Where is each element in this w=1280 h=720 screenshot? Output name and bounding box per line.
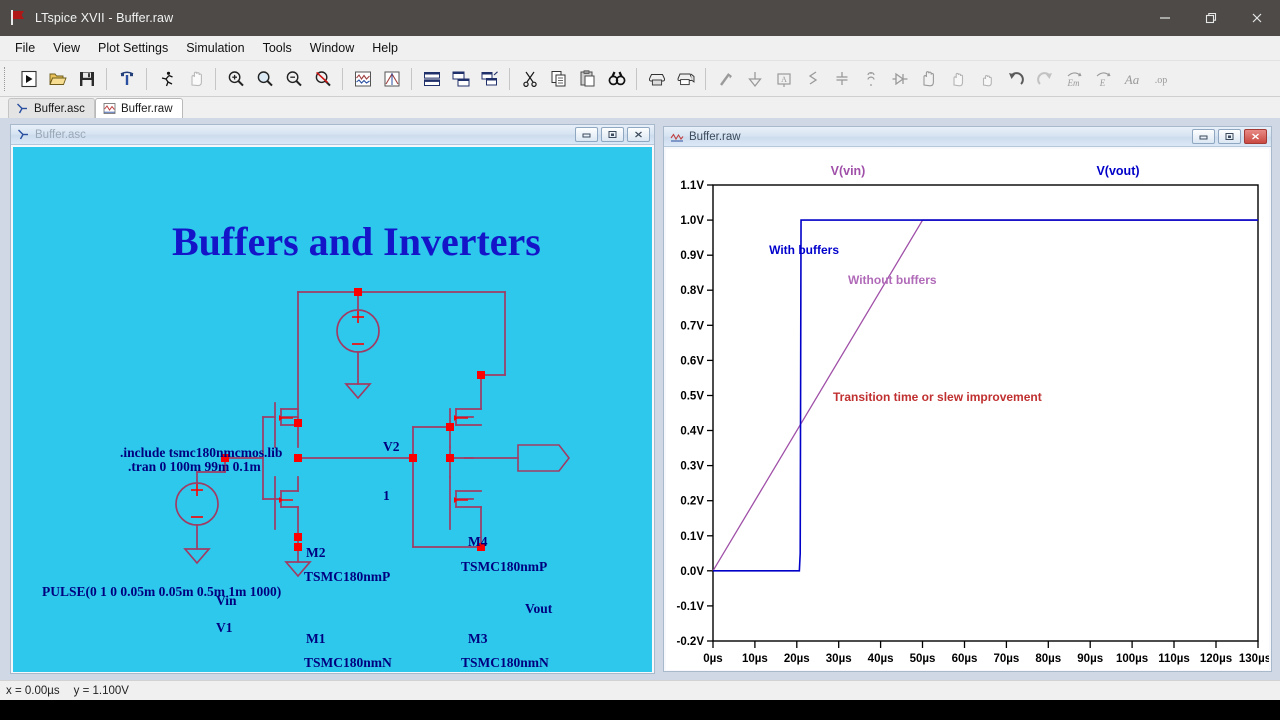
device-ref-m3: M3 — [468, 631, 488, 646]
waveform-icon[interactable] — [348, 65, 377, 93]
device-model-m2: TSMC180nmP — [304, 569, 390, 584]
y-tick-label: 0.3V — [680, 461, 704, 473]
x-tick-label: 50µs — [910, 653, 936, 665]
x-tick-label: 20µs — [784, 653, 810, 665]
waveform-plot: V(vin) V(vout) — [666, 149, 1269, 670]
paste-icon[interactable] — [573, 65, 602, 93]
spice-directive-tran: .tran 0 100m 99m 0.1m — [128, 459, 261, 474]
mirror-icon[interactable]: E — [1088, 65, 1117, 93]
document-tab-strip: Buffer.asc Buffer.raw — [0, 97, 1280, 118]
svg-text:Aa: Aa — [1123, 72, 1139, 87]
waveform-window-controls — [1192, 129, 1271, 144]
y-tick-label: 1.1V — [680, 180, 704, 192]
restore-icon[interactable] — [1188, 0, 1234, 36]
tab-buffer-asc[interactable]: Buffer.asc — [8, 98, 95, 118]
x-tick-label: 0µs — [703, 653, 722, 665]
close-icon[interactable] — [1234, 0, 1280, 36]
close-icon[interactable] — [627, 127, 650, 142]
y-tick-label: 0.5V — [680, 391, 704, 403]
title-bar: LTspice XVII - Buffer.raw — [0, 0, 1280, 36]
waveform-window-titlebar[interactable]: Buffer.raw — [664, 127, 1271, 147]
hammer-icon[interactable] — [112, 65, 141, 93]
label-net-icon[interactable]: A — [769, 65, 798, 93]
inductor-icon[interactable] — [856, 65, 885, 93]
y-tick-label: 0.7V — [680, 320, 704, 332]
y-tick-label: 0.6V — [680, 355, 704, 367]
zoom-in-icon[interactable] — [221, 65, 250, 93]
ltspice-application-window: LTspice XVII - Buffer.raw File View P — [0, 0, 1280, 720]
annotation-with-buffers: With buffers — [769, 243, 839, 257]
toolbar-grip — [4, 67, 10, 91]
cursor-x-readout: x = 0.00µs — [6, 685, 60, 697]
tile-horizontal-icon[interactable] — [417, 65, 446, 93]
x-tick-label: 120µs — [1200, 653, 1232, 665]
x-tick-label: 130µs — [1239, 653, 1269, 665]
open-folder-icon[interactable] — [43, 65, 72, 93]
menu-simulation[interactable]: Simulation — [177, 38, 253, 58]
run-icon[interactable] — [14, 65, 43, 93]
net-label-vin: Vin — [216, 593, 237, 608]
minimize-icon[interactable] — [575, 127, 598, 142]
menu-bar: File View Plot Settings Simulation Tools… — [0, 36, 1280, 61]
annotation-without-buffers: Without buffers — [848, 273, 937, 287]
svg-text:.op: .op — [1154, 75, 1167, 86]
zoom-back-icon[interactable] — [308, 65, 337, 93]
x-tick-label: 70µs — [993, 653, 1019, 665]
copy-icon[interactable] — [544, 65, 573, 93]
schematic-icon — [17, 128, 30, 141]
find-icon[interactable] — [602, 65, 631, 93]
spice-error-log-icon[interactable] — [377, 65, 406, 93]
y-tick-label: 0.1V — [680, 531, 704, 543]
menu-tools[interactable]: Tools — [254, 38, 301, 58]
waveform-child-window: Buffer.raw V(vin) V(vo — [663, 126, 1272, 672]
x-tick-label: 110µs — [1158, 653, 1190, 665]
y-tick-label: 0.2V — [680, 496, 704, 508]
screen-letterbox — [0, 700, 1280, 720]
zoom-area-icon[interactable] — [250, 65, 279, 93]
schematic-nodes — [221, 288, 485, 551]
text-icon[interactable]: Aa — [1117, 65, 1146, 93]
y-tick-label: 0.9V — [680, 250, 704, 262]
schematic-canvas[interactable]: Buffers and Inverters .include tsmc180nm… — [13, 147, 652, 672]
schematic-window-controls — [575, 127, 654, 142]
svg-text:A: A — [781, 75, 787, 84]
drag-icon[interactable] — [972, 65, 1001, 93]
close-icon[interactable] — [1244, 129, 1267, 144]
menu-window[interactable]: Window — [301, 38, 363, 58]
schematic-child-window: Buffer.asc — [10, 124, 655, 674]
x-tick-label: 100µs — [1116, 653, 1148, 665]
x-tick-label: 90µs — [1077, 653, 1103, 665]
waveform-icon — [670, 130, 684, 143]
waveform-window-title: Buffer.raw — [689, 131, 741, 143]
minimize-icon[interactable] — [1142, 0, 1188, 36]
minimize-icon[interactable] — [1192, 129, 1215, 144]
stop-hand-icon[interactable] — [181, 65, 210, 93]
device-model-m3: TSMC180nmN — [461, 655, 549, 670]
menu-help[interactable]: Help — [363, 38, 407, 58]
save-icon[interactable] — [72, 65, 101, 93]
source-ref-v2: V2 — [383, 439, 400, 454]
tab-label: Buffer.asc — [34, 103, 85, 115]
device-model-m4: TSMC180nmP — [461, 559, 547, 574]
status-bar: x = 0.00µs y = 1.100V — [0, 680, 1280, 700]
tab-label: Buffer.raw — [121, 103, 173, 115]
maximize-icon[interactable] — [601, 127, 624, 142]
x-tick-label: 40µs — [868, 653, 894, 665]
draw-wire-icon[interactable] — [711, 65, 740, 93]
device-ref-m1: M1 — [306, 631, 326, 646]
spice-directive-include: .include tsmc180nmcmos.lib — [120, 445, 282, 460]
y-tick-label: 0.8V — [680, 285, 704, 297]
source-ref-v1: V1 — [216, 620, 233, 635]
print-icon[interactable] — [642, 65, 671, 93]
component-icon[interactable] — [914, 65, 943, 93]
capacitor-icon[interactable] — [827, 65, 856, 93]
print-preview-icon[interactable] — [671, 65, 700, 93]
schematic-window-title: Buffer.asc — [35, 129, 86, 141]
net-label-vout: Vout — [525, 601, 553, 616]
spice-directive-icon[interactable]: .op — [1146, 65, 1175, 93]
svg-text:Em: Em — [1066, 78, 1079, 88]
zoom-out-icon[interactable] — [279, 65, 308, 93]
x-tick-label: 60µs — [952, 653, 978, 665]
window-controls — [1142, 0, 1280, 36]
undo-icon[interactable] — [1001, 65, 1030, 93]
menu-plot-settings[interactable]: Plot Settings — [89, 38, 177, 58]
menu-file[interactable]: File — [6, 38, 44, 58]
diode-icon[interactable] — [885, 65, 914, 93]
device-model-m1: TSMC180nmN — [304, 655, 392, 670]
schematic-icon — [16, 102, 29, 115]
waveform-icon — [103, 102, 116, 115]
trace-legend-vout: V(vout) — [1096, 164, 1139, 178]
y-tick-label: -0.1V — [677, 601, 705, 613]
schematic-heading: Buffers and Inverters — [172, 219, 541, 264]
cursor-y-readout: y = 1.100V — [74, 685, 129, 697]
schematic-window-titlebar[interactable]: Buffer.asc — [11, 125, 654, 145]
resistor-icon[interactable] — [798, 65, 827, 93]
x-tick-label: 80µs — [1035, 653, 1061, 665]
device-ref-m4: M4 — [468, 534, 488, 549]
svg-text:E: E — [1098, 78, 1105, 88]
net-flag-vout — [518, 445, 569, 471]
menu-view[interactable]: View — [44, 38, 89, 58]
y-tick-label: -0.2V — [677, 636, 705, 648]
y-tick-label: 1.0V — [680, 215, 704, 227]
redo-icon[interactable] — [1030, 65, 1059, 93]
y-tick-label: 0.4V — [680, 426, 704, 438]
mdi-client-area: Buffer.asc — [0, 118, 1280, 680]
x-tick-label: 30µs — [826, 653, 852, 665]
tile-vertical-icon[interactable] — [446, 65, 475, 93]
source-pulse-text: PULSE(0 1 0 0.05m 0.05m 0.5m 1m 1000) — [42, 584, 281, 599]
tab-buffer-raw[interactable]: Buffer.raw — [95, 98, 183, 118]
main-toolbar: A — [0, 61, 1280, 97]
y-tick-label: 0.0V — [680, 566, 704, 578]
device-ref-m2: M2 — [306, 545, 326, 560]
ltspice-flag-icon — [10, 10, 26, 26]
move-icon[interactable] — [943, 65, 972, 93]
maximize-icon[interactable] — [1218, 129, 1241, 144]
source-value-v2: 1 — [383, 488, 390, 503]
cut-icon[interactable] — [515, 65, 544, 93]
rotate-icon[interactable]: Em — [1059, 65, 1088, 93]
x-tick-label: 10µs — [742, 653, 768, 665]
cascade-icon[interactable] — [475, 65, 504, 93]
schematic-drawing: Buffers and Inverters .include tsmc180nm… — [13, 147, 652, 672]
ground-icon[interactable] — [740, 65, 769, 93]
run-man-icon[interactable] — [152, 65, 181, 93]
waveform-plot-pane[interactable]: V(vin) V(vout) — [666, 149, 1269, 670]
window-title: LTspice XVII - Buffer.raw — [35, 11, 173, 25]
annotation-transition-time: Transition time or slew improvement — [833, 390, 1042, 404]
trace-legend-vin: V(vin) — [831, 164, 866, 178]
